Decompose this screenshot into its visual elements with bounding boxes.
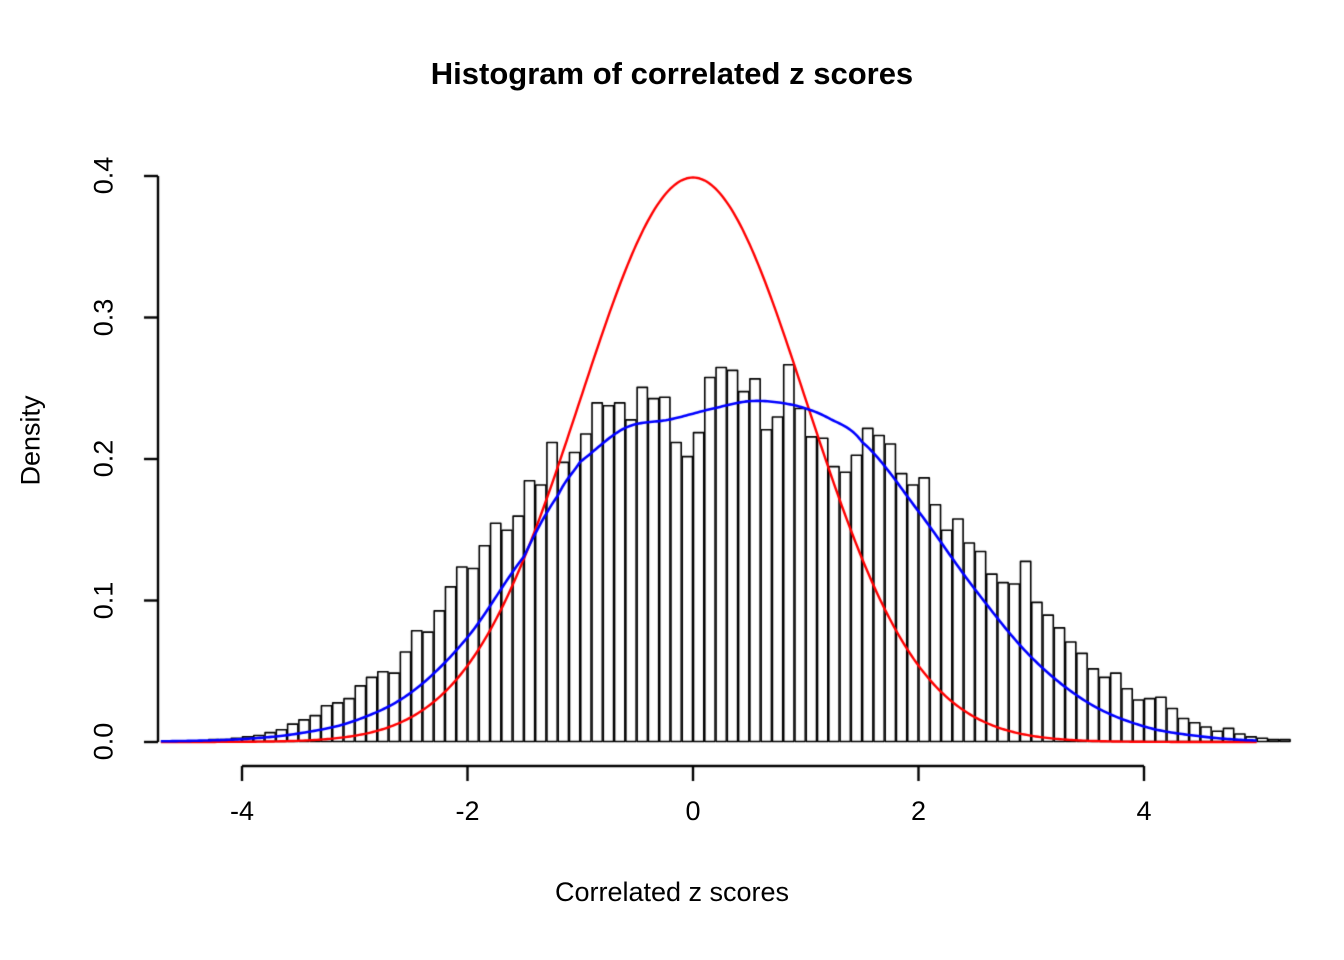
x-tick-label: -2 — [428, 796, 508, 827]
x-tick-label: -4 — [202, 796, 282, 827]
y-tick-label: 0.2 — [89, 429, 120, 489]
y-tick-label: 0.4 — [89, 146, 120, 206]
y-tick-label: 0.1 — [89, 570, 120, 630]
y-tick-label: 0.0 — [89, 712, 120, 772]
x-tick-label: 0 — [653, 796, 733, 827]
x-tick-label: 2 — [879, 796, 959, 827]
y-axis-label: Density — [16, 361, 47, 521]
histogram-plot: Histogram of correlated z scores Density… — [0, 0, 1344, 960]
x-axis-label: Correlated z scores — [0, 877, 1344, 908]
y-tick-label: 0.3 — [89, 287, 120, 347]
x-tick-label: 4 — [1104, 796, 1184, 827]
